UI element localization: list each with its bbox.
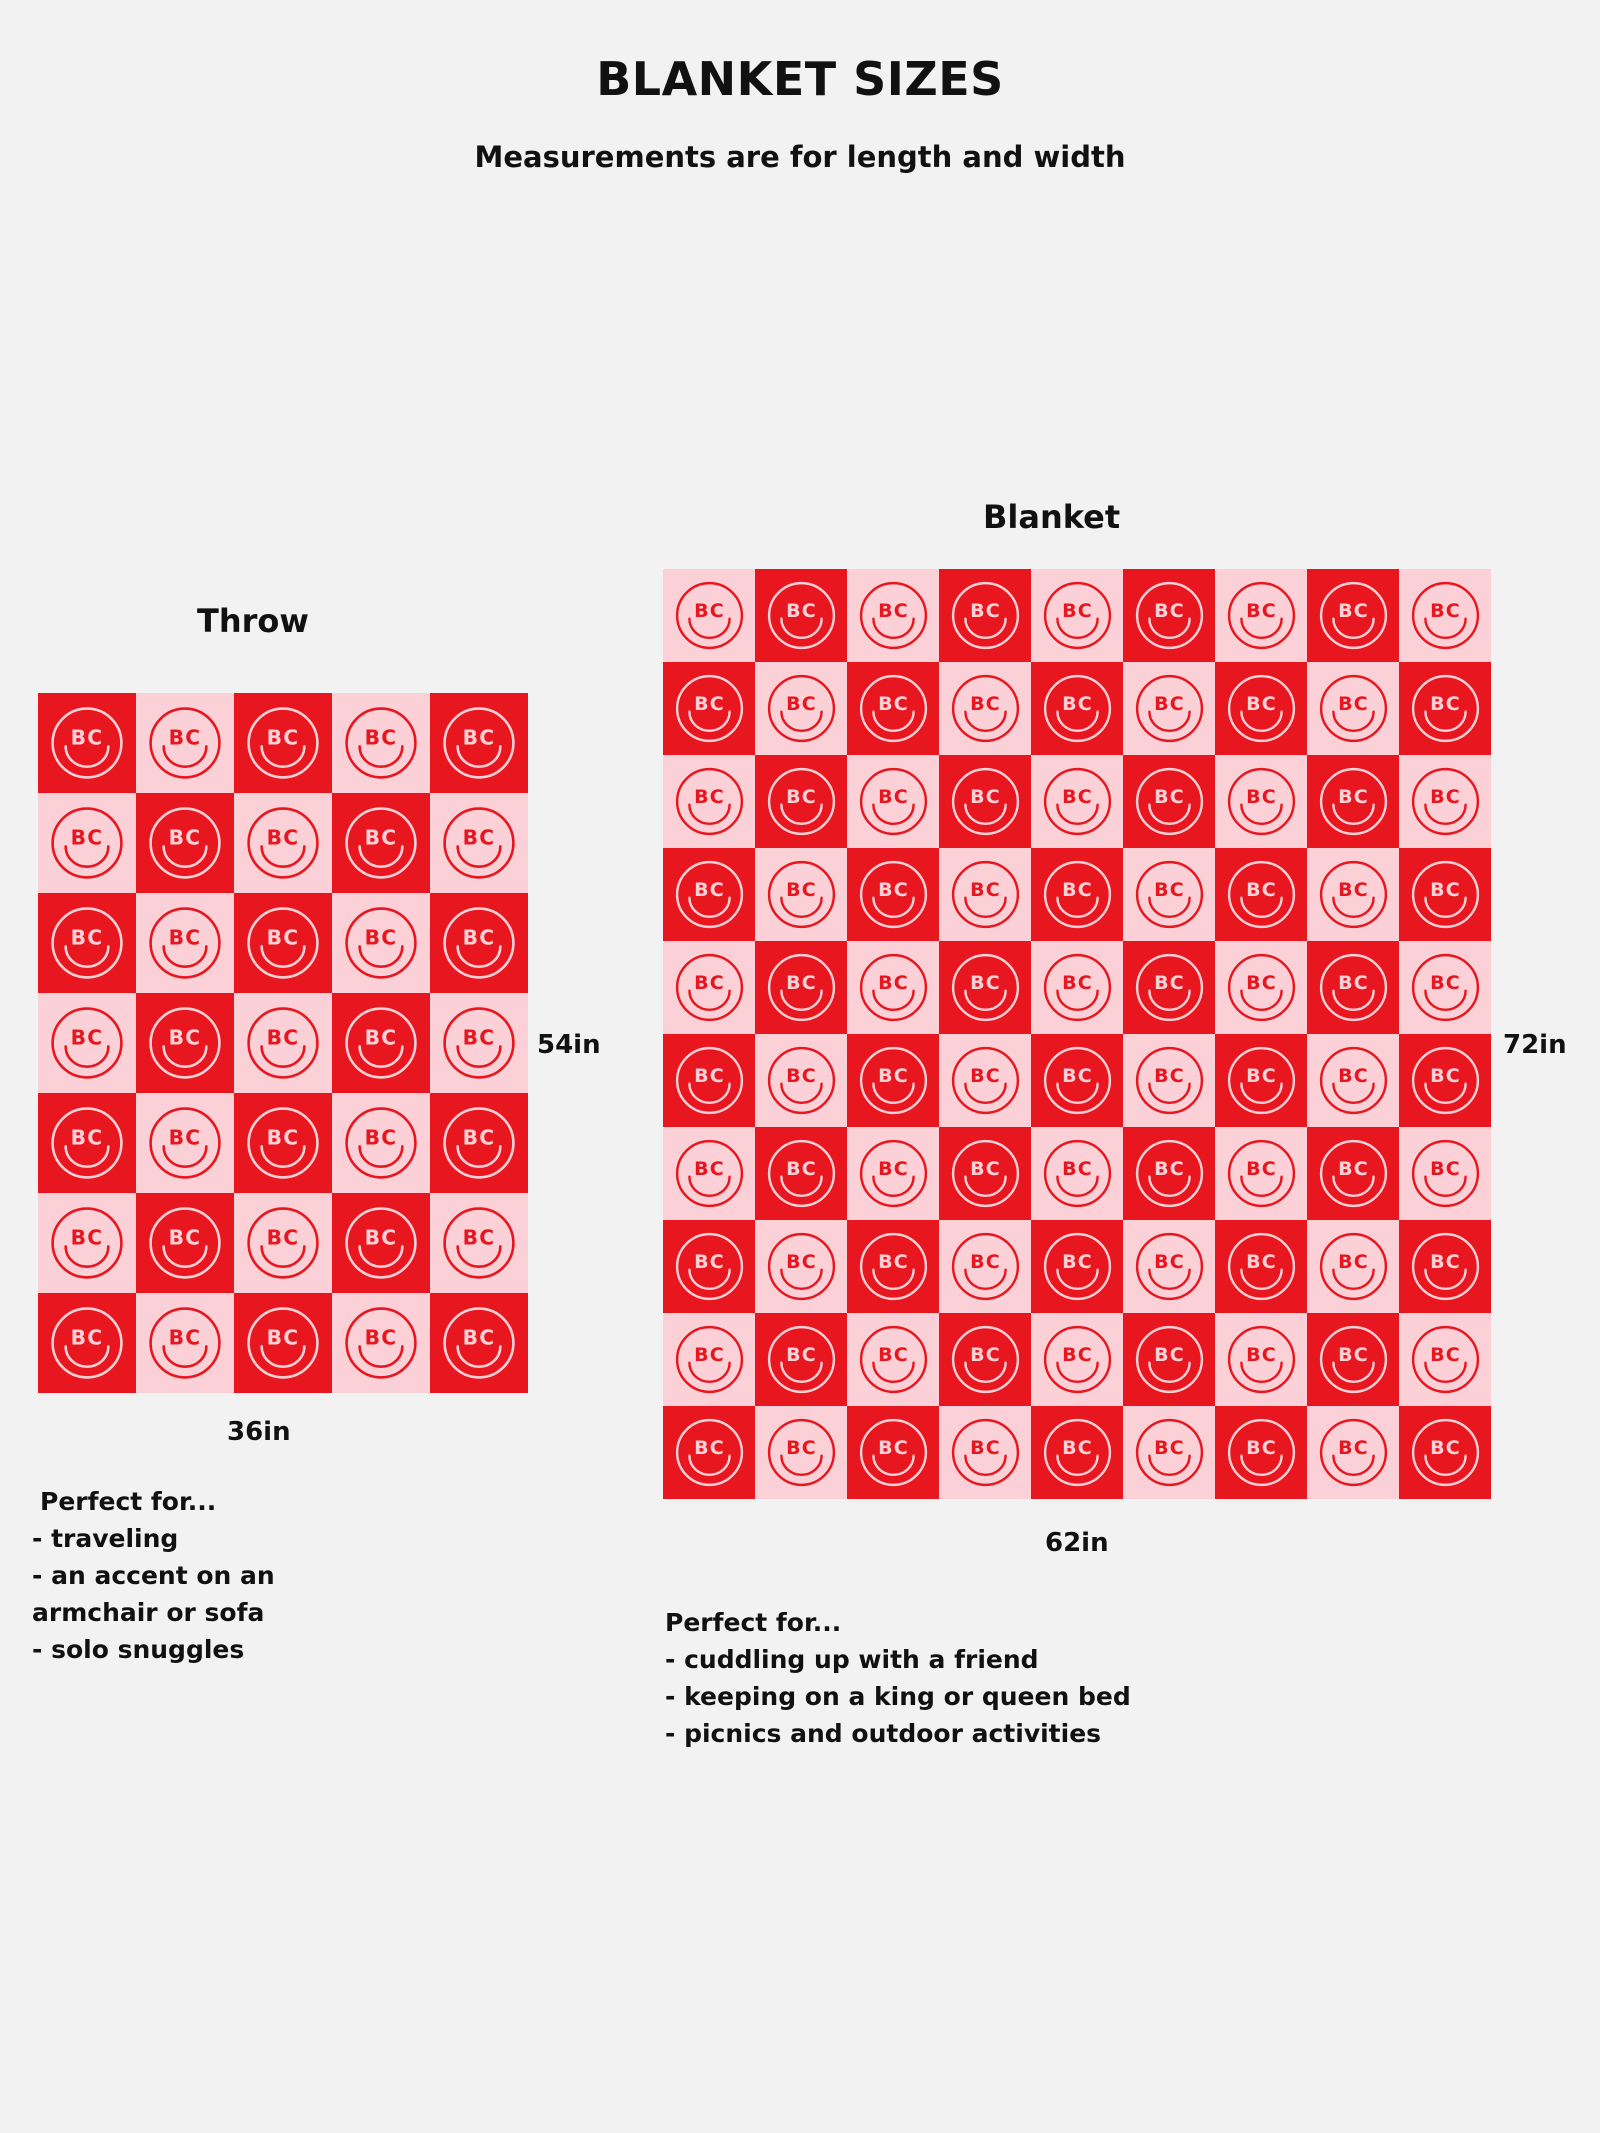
blanket-swatch: BCBCBCBCBCBCBCBCBCBCBCBCBCBCBCBCBCBCBCBC…	[663, 569, 1491, 1499]
svg-text:BC: BC	[1062, 972, 1093, 994]
smiley-face-icon: BC	[240, 1000, 326, 1086]
swatch-cell: BC	[663, 941, 755, 1034]
swatch-cell: BC	[1399, 1034, 1491, 1127]
swatch-cell: BC	[663, 1127, 755, 1220]
swatch-cell: BC	[1123, 1406, 1215, 1499]
smiley-face-icon: BC	[1221, 668, 1302, 749]
svg-text:BC: BC	[786, 1251, 817, 1273]
swatch-cell: BC	[1215, 1220, 1307, 1313]
swatch-cell: BC	[1307, 1406, 1399, 1499]
svg-text:BC: BC	[169, 725, 202, 749]
swatch-cell: BC	[939, 941, 1031, 1034]
swatch-cell: BC	[136, 1293, 234, 1393]
swatch-cell: BC	[332, 993, 430, 1093]
svg-text:BC: BC	[365, 925, 398, 949]
svg-text:BC: BC	[1154, 1065, 1185, 1087]
svg-text:BC: BC	[1246, 879, 1277, 901]
swatch-cell: BC	[1307, 1220, 1399, 1313]
svg-text:BC: BC	[694, 879, 725, 901]
smiley-face-icon: BC	[853, 668, 934, 749]
smiley-face-icon: BC	[1313, 761, 1394, 842]
smiley-face-icon: BC	[1221, 1040, 1302, 1121]
svg-text:BC: BC	[1154, 879, 1185, 901]
swatch-cell: BC	[755, 1220, 847, 1313]
swatch-cell: BC	[755, 755, 847, 848]
svg-text:BC: BC	[1062, 600, 1093, 622]
svg-text:BC: BC	[1062, 1251, 1093, 1273]
throw-copy-line: armchair or sofa	[32, 1594, 452, 1631]
smiley-face-icon: BC	[1037, 947, 1118, 1028]
swatch-cell: BC	[1307, 755, 1399, 848]
svg-text:BC: BC	[1430, 693, 1461, 715]
smiley-face-icon: BC	[142, 900, 228, 986]
svg-text:BC: BC	[1246, 693, 1277, 715]
svg-text:BC: BC	[1062, 1158, 1093, 1180]
smiley-face-icon: BC	[853, 1226, 934, 1307]
swatch-cell: BC	[1031, 1127, 1123, 1220]
smiley-face-icon: BC	[1313, 1133, 1394, 1214]
smiley-face-icon: BC	[1129, 1412, 1210, 1493]
swatch-cell: BC	[663, 1220, 755, 1313]
svg-text:BC: BC	[1246, 600, 1277, 622]
smiley-face-icon: BC	[853, 1319, 934, 1400]
swatch-cell: BC	[136, 893, 234, 993]
smiley-face-icon: BC	[761, 761, 842, 842]
swatch-cell: BC	[234, 1093, 332, 1193]
svg-text:BC: BC	[786, 1158, 817, 1180]
throw-copy-line: - solo snuggles	[32, 1631, 452, 1668]
smiley-face-icon: BC	[761, 854, 842, 935]
smiley-face-icon: BC	[669, 668, 750, 749]
svg-text:BC: BC	[1154, 786, 1185, 808]
smiley-face-icon: BC	[240, 1100, 326, 1186]
blanket-section-label: Blanket	[983, 498, 1120, 536]
smiley-face-icon: BC	[1037, 854, 1118, 935]
swatch-cell: BC	[332, 893, 430, 993]
throw-height-label: 54in	[537, 1030, 601, 1060]
svg-text:BC: BC	[365, 1225, 398, 1249]
smiley-face-icon: BC	[945, 854, 1026, 935]
svg-text:BC: BC	[267, 1025, 300, 1049]
svg-text:BC: BC	[1062, 879, 1093, 901]
swatch-cell: BC	[136, 793, 234, 893]
swatch-cell: BC	[1215, 1313, 1307, 1406]
smiley-face-icon: BC	[853, 1040, 934, 1121]
page-title: BLANKET SIZES	[0, 52, 1600, 106]
smiley-face-icon: BC	[1221, 1319, 1302, 1400]
smiley-face-icon: BC	[240, 1300, 326, 1386]
swatch-cell: BC	[136, 1193, 234, 1293]
swatch-cell: BC	[663, 1034, 755, 1127]
svg-text:BC: BC	[1154, 972, 1185, 994]
smiley-face-icon: BC	[945, 1133, 1026, 1214]
swatch-cell: BC	[1399, 662, 1491, 755]
smiley-face-icon: BC	[1313, 668, 1394, 749]
smiley-face-icon: BC	[669, 575, 750, 656]
svg-text:BC: BC	[1062, 1344, 1093, 1366]
svg-text:BC: BC	[694, 1344, 725, 1366]
svg-text:BC: BC	[786, 972, 817, 994]
svg-text:BC: BC	[786, 1344, 817, 1366]
swatch-cell: BC	[755, 1313, 847, 1406]
svg-text:BC: BC	[169, 1025, 202, 1049]
svg-text:BC: BC	[267, 1125, 300, 1149]
smiley-face-icon: BC	[142, 800, 228, 886]
svg-text:BC: BC	[878, 972, 909, 994]
svg-text:BC: BC	[71, 1025, 104, 1049]
swatch-cell: BC	[38, 993, 136, 1093]
smiley-face-icon: BC	[945, 1319, 1026, 1400]
svg-text:BC: BC	[1338, 972, 1369, 994]
svg-text:BC: BC	[463, 725, 496, 749]
svg-text:BC: BC	[970, 1437, 1001, 1459]
svg-text:BC: BC	[365, 1025, 398, 1049]
swatch-cell: BC	[38, 793, 136, 893]
svg-text:BC: BC	[1246, 1344, 1277, 1366]
swatch-cell: BC	[939, 1406, 1031, 1499]
smiley-face-icon: BC	[1313, 854, 1394, 935]
swatch-cell: BC	[38, 1193, 136, 1293]
smiley-face-icon: BC	[945, 575, 1026, 656]
smiley-face-icon: BC	[1129, 1226, 1210, 1307]
swatch-cell: BC	[1399, 1406, 1491, 1499]
svg-text:BC: BC	[1338, 1251, 1369, 1273]
swatch-cell: BC	[755, 848, 847, 941]
smiley-face-icon: BC	[1037, 761, 1118, 842]
swatch-cell: BC	[1399, 569, 1491, 662]
smiley-face-icon: BC	[1221, 1412, 1302, 1493]
smiley-face-icon: BC	[1313, 947, 1394, 1028]
svg-text:BC: BC	[694, 972, 725, 994]
svg-text:BC: BC	[1338, 1437, 1369, 1459]
swatch-cell: BC	[847, 941, 939, 1034]
swatch-cell: BC	[847, 1406, 939, 1499]
svg-text:BC: BC	[463, 1025, 496, 1049]
swatch-cell: BC	[663, 1313, 755, 1406]
smiley-face-icon: BC	[945, 668, 1026, 749]
svg-text:BC: BC	[786, 786, 817, 808]
svg-text:BC: BC	[970, 600, 1001, 622]
svg-text:BC: BC	[1154, 693, 1185, 715]
swatch-cell: BC	[234, 1293, 332, 1393]
smiley-face-icon: BC	[436, 1100, 522, 1186]
swatch-cell: BC	[939, 848, 1031, 941]
svg-text:BC: BC	[169, 1125, 202, 1149]
svg-text:BC: BC	[1430, 786, 1461, 808]
smiley-face-icon: BC	[1221, 575, 1302, 656]
swatch-cell: BC	[234, 993, 332, 1093]
svg-text:BC: BC	[71, 725, 104, 749]
smiley-face-icon: BC	[1129, 1040, 1210, 1121]
smiley-face-icon: BC	[669, 1133, 750, 1214]
smiley-face-icon: BC	[436, 800, 522, 886]
svg-text:BC: BC	[878, 1158, 909, 1180]
svg-text:BC: BC	[463, 825, 496, 849]
swatch-cell: BC	[939, 662, 1031, 755]
svg-text:BC: BC	[267, 725, 300, 749]
smiley-face-icon: BC	[1129, 1319, 1210, 1400]
svg-text:BC: BC	[1246, 1065, 1277, 1087]
swatch-cell: BC	[1215, 1127, 1307, 1220]
svg-text:BC: BC	[365, 825, 398, 849]
swatch-cell: BC	[663, 1406, 755, 1499]
swatch-cell: BC	[847, 1127, 939, 1220]
smiley-face-icon: BC	[44, 1100, 130, 1186]
smiley-face-icon: BC	[1037, 1319, 1118, 1400]
swatch-cell: BC	[663, 755, 755, 848]
swatch-cell: BC	[1031, 848, 1123, 941]
swatch-cell: BC	[1215, 755, 1307, 848]
swatch-cell: BC	[1031, 1313, 1123, 1406]
smiley-face-icon: BC	[436, 900, 522, 986]
smiley-face-icon: BC	[44, 800, 130, 886]
svg-text:BC: BC	[1062, 1437, 1093, 1459]
swatch-cell: BC	[430, 993, 528, 1093]
smiley-face-icon: BC	[44, 1300, 130, 1386]
swatch-cell: BC	[332, 1293, 430, 1393]
blanket-copy-lead: Perfect for...	[665, 1604, 1365, 1641]
smiley-face-icon: BC	[853, 854, 934, 935]
swatch-cell: BC	[1031, 1220, 1123, 1313]
smiley-face-icon: BC	[142, 1200, 228, 1286]
svg-text:BC: BC	[267, 1325, 300, 1349]
swatch-cell: BC	[332, 1093, 430, 1193]
svg-text:BC: BC	[970, 879, 1001, 901]
svg-text:BC: BC	[1154, 1251, 1185, 1273]
smiley-face-icon: BC	[1313, 1040, 1394, 1121]
swatch-cell: BC	[234, 893, 332, 993]
smiley-face-icon: BC	[1313, 1226, 1394, 1307]
swatch-cell: BC	[939, 569, 1031, 662]
smiley-face-icon: BC	[945, 1226, 1026, 1307]
svg-text:BC: BC	[1154, 1437, 1185, 1459]
smiley-face-icon: BC	[1221, 1226, 1302, 1307]
svg-text:BC: BC	[878, 1065, 909, 1087]
swatch-cell: BC	[663, 569, 755, 662]
blanket-copy-line: - picnics and outdoor activities	[665, 1715, 1365, 1752]
smiley-face-icon: BC	[44, 1200, 130, 1286]
swatch-cell: BC	[755, 1127, 847, 1220]
swatch-cell: BC	[332, 793, 430, 893]
svg-text:BC: BC	[169, 825, 202, 849]
swatch-cell: BC	[430, 693, 528, 793]
smiley-face-icon: BC	[853, 947, 934, 1028]
smiley-face-icon: BC	[240, 800, 326, 886]
swatch-cell: BC	[847, 755, 939, 848]
smiley-face-icon: BC	[142, 1300, 228, 1386]
svg-text:BC: BC	[878, 600, 909, 622]
svg-text:BC: BC	[970, 1251, 1001, 1273]
smiley-face-icon: BC	[436, 1200, 522, 1286]
svg-text:BC: BC	[267, 925, 300, 949]
smiley-face-icon: BC	[1037, 1040, 1118, 1121]
swatch-cell: BC	[332, 1193, 430, 1293]
smiley-face-icon: BC	[1221, 761, 1302, 842]
swatch-cell: BC	[136, 693, 234, 793]
swatch-cell: BC	[939, 1127, 1031, 1220]
swatch-cell: BC	[663, 662, 755, 755]
smiley-face-icon: BC	[1313, 1412, 1394, 1493]
blanket-width-label: 62in	[1045, 1528, 1109, 1558]
svg-text:BC: BC	[1062, 786, 1093, 808]
smiley-face-icon: BC	[1405, 854, 1486, 935]
svg-text:BC: BC	[1338, 693, 1369, 715]
svg-text:BC: BC	[878, 693, 909, 715]
smiley-face-icon: BC	[761, 668, 842, 749]
smiley-face-icon: BC	[142, 1000, 228, 1086]
swatch-cell: BC	[430, 1193, 528, 1293]
smiley-face-icon: BC	[338, 700, 424, 786]
blanket-size-guide: BLANKET SIZES Measurements are for lengt…	[0, 0, 1600, 2133]
svg-text:BC: BC	[365, 1125, 398, 1149]
smiley-face-icon: BC	[1129, 761, 1210, 842]
swatch-cell: BC	[1031, 569, 1123, 662]
swatch-cell: BC	[1031, 1406, 1123, 1499]
svg-text:BC: BC	[970, 1344, 1001, 1366]
svg-text:BC: BC	[694, 600, 725, 622]
swatch-cell: BC	[755, 662, 847, 755]
svg-text:BC: BC	[1430, 1158, 1461, 1180]
smiley-face-icon: BC	[338, 800, 424, 886]
swatch-cell: BC	[1215, 569, 1307, 662]
smiley-face-icon: BC	[436, 1300, 522, 1386]
svg-text:BC: BC	[71, 925, 104, 949]
smiley-face-icon: BC	[1221, 947, 1302, 1028]
smiley-face-icon: BC	[1405, 1133, 1486, 1214]
swatch-cell: BC	[332, 693, 430, 793]
swatch-cell: BC	[1031, 1034, 1123, 1127]
smiley-face-icon: BC	[338, 1200, 424, 1286]
swatch-cell: BC	[755, 569, 847, 662]
svg-text:BC: BC	[463, 1225, 496, 1249]
smiley-face-icon: BC	[1037, 1412, 1118, 1493]
swatch-cell: BC	[38, 1093, 136, 1193]
swatch-cell: BC	[430, 893, 528, 993]
swatch-cell: BC	[136, 993, 234, 1093]
smiley-face-icon: BC	[761, 1040, 842, 1121]
swatch-cell: BC	[38, 893, 136, 993]
smiley-face-icon: BC	[945, 947, 1026, 1028]
smiley-face-icon: BC	[1221, 1133, 1302, 1214]
swatch-cell: BC	[1215, 662, 1307, 755]
svg-text:BC: BC	[365, 1325, 398, 1349]
svg-text:BC: BC	[1430, 972, 1461, 994]
swatch-cell: BC	[1123, 755, 1215, 848]
swatch-cell: BC	[1031, 755, 1123, 848]
smiley-face-icon: BC	[1129, 947, 1210, 1028]
throw-width-label: 36in	[227, 1417, 291, 1447]
smiley-face-icon: BC	[1129, 1133, 1210, 1214]
svg-text:BC: BC	[786, 1437, 817, 1459]
swatch-cell: BC	[1399, 1220, 1491, 1313]
svg-text:BC: BC	[970, 1158, 1001, 1180]
smiley-face-icon: BC	[945, 1040, 1026, 1121]
svg-text:BC: BC	[71, 1125, 104, 1149]
smiley-face-icon: BC	[1037, 668, 1118, 749]
svg-text:BC: BC	[463, 1325, 496, 1349]
svg-text:BC: BC	[1430, 1251, 1461, 1273]
smiley-face-icon: BC	[853, 761, 934, 842]
svg-text:BC: BC	[694, 693, 725, 715]
smiley-face-icon: BC	[240, 1200, 326, 1286]
smiley-face-icon: BC	[669, 854, 750, 935]
swatch-cell: BC	[755, 941, 847, 1034]
smiley-face-icon: BC	[761, 1226, 842, 1307]
smiley-face-icon: BC	[338, 1000, 424, 1086]
smiley-face-icon: BC	[761, 947, 842, 1028]
svg-text:BC: BC	[71, 825, 104, 849]
smiley-face-icon: BC	[853, 575, 934, 656]
smiley-face-icon: BC	[1405, 668, 1486, 749]
svg-text:BC: BC	[1338, 786, 1369, 808]
smiley-face-icon: BC	[44, 700, 130, 786]
svg-text:BC: BC	[694, 1251, 725, 1273]
swatch-cell: BC	[1307, 662, 1399, 755]
swatch-cell: BC	[939, 1313, 1031, 1406]
swatch-cell: BC	[430, 1293, 528, 1393]
swatch-cell: BC	[1399, 1313, 1491, 1406]
svg-text:BC: BC	[267, 1225, 300, 1249]
svg-text:BC: BC	[694, 786, 725, 808]
throw-copy-line: - an accent on an	[32, 1557, 452, 1594]
swatch-cell: BC	[939, 1220, 1031, 1313]
svg-text:BC: BC	[169, 1325, 202, 1349]
svg-text:BC: BC	[1154, 1344, 1185, 1366]
page-subtitle: Measurements are for length and width	[0, 140, 1600, 174]
swatch-cell: BC	[430, 793, 528, 893]
swatch-cell: BC	[847, 1034, 939, 1127]
swatch-cell: BC	[1215, 848, 1307, 941]
svg-text:BC: BC	[1430, 879, 1461, 901]
swatch-cell: BC	[847, 1313, 939, 1406]
throw-copy-lead: Perfect for...	[40, 1483, 452, 1520]
swatch-cell: BC	[1215, 941, 1307, 1034]
svg-text:BC: BC	[970, 972, 1001, 994]
swatch-cell: BC	[1123, 1034, 1215, 1127]
swatch-cell: BC	[847, 1220, 939, 1313]
smiley-face-icon: BC	[436, 1000, 522, 1086]
smiley-face-icon: BC	[142, 1100, 228, 1186]
svg-text:BC: BC	[1062, 1065, 1093, 1087]
swatch-cell: BC	[1399, 848, 1491, 941]
svg-text:BC: BC	[463, 1125, 496, 1149]
svg-text:BC: BC	[71, 1325, 104, 1349]
svg-text:BC: BC	[1246, 786, 1277, 808]
swatch-cell: BC	[1399, 941, 1491, 1034]
svg-text:BC: BC	[694, 1065, 725, 1087]
smiley-face-icon: BC	[338, 1300, 424, 1386]
smiley-face-icon: BC	[338, 1100, 424, 1186]
swatch-cell: BC	[939, 755, 1031, 848]
svg-text:BC: BC	[878, 1344, 909, 1366]
smiley-face-icon: BC	[240, 900, 326, 986]
smiley-face-icon: BC	[1405, 1226, 1486, 1307]
svg-text:BC: BC	[878, 786, 909, 808]
svg-text:BC: BC	[878, 1437, 909, 1459]
svg-text:BC: BC	[1430, 1344, 1461, 1366]
swatch-cell: BC	[1123, 1313, 1215, 1406]
swatch-cell: BC	[847, 662, 939, 755]
smiley-face-icon: BC	[1405, 1412, 1486, 1493]
smiley-face-icon: BC	[669, 1412, 750, 1493]
swatch-cell: BC	[1307, 1313, 1399, 1406]
svg-text:BC: BC	[1246, 1437, 1277, 1459]
swatch-cell: BC	[847, 569, 939, 662]
svg-text:BC: BC	[267, 825, 300, 849]
smiley-face-icon: BC	[853, 1133, 934, 1214]
svg-text:BC: BC	[1154, 600, 1185, 622]
smiley-face-icon: BC	[1405, 1040, 1486, 1121]
